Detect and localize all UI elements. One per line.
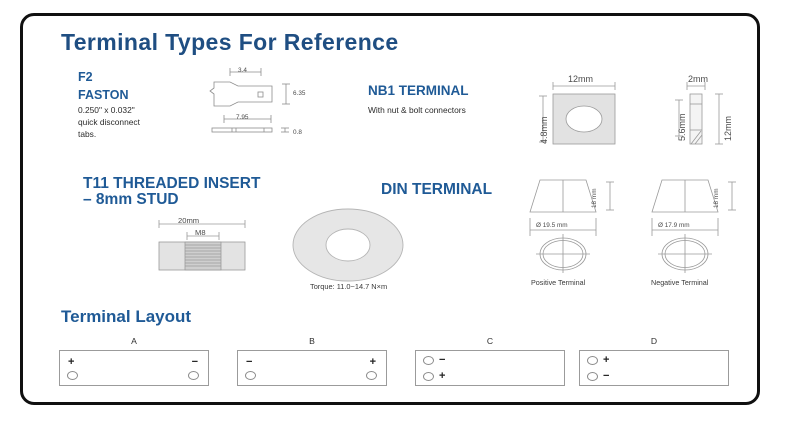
page-title: Terminal Types For Reference: [61, 29, 399, 56]
nb1-dim-plate-height: 4.8mm: [539, 116, 549, 144]
layout-a-left-terminal: [67, 371, 78, 380]
nb1-heading: NB1 TERMINAL: [368, 83, 469, 98]
nb1-dim-bolt-height: 12mm: [723, 116, 733, 141]
f2-dim-width-top: 3.4: [238, 67, 247, 74]
layout-b-right-terminal: [366, 371, 377, 380]
nb1-dim-bolt-width: 2mm: [688, 74, 708, 84]
t11-insert-drawing: [151, 214, 271, 274]
layout-letter-d: D: [579, 336, 729, 346]
layout-box-c: − +: [415, 350, 565, 386]
din-positive-height: 18 mm: [591, 188, 598, 208]
f2-description: 0.250" x 0.032" quick disconnect tabs.: [78, 104, 173, 141]
din-positive-caption: Positive Terminal: [531, 278, 585, 287]
layout-box-b: − +: [237, 350, 387, 386]
layout-letter-a: A: [59, 336, 209, 346]
f2-drawing: [208, 64, 338, 139]
layout-d-bottom-terminal: [587, 372, 598, 381]
reference-sheet: Terminal Types For Reference F2 FASTON 0…: [20, 13, 760, 405]
f2-dim-height-right: 6.35: [293, 90, 305, 97]
nb1-description: With nut & bolt connectors: [368, 104, 466, 116]
layout-a-right-sign: −: [192, 357, 198, 368]
layout-letter-b: B: [237, 336, 387, 346]
nb1-dim-plate-width: 12mm: [568, 74, 593, 84]
t11-torque-note: Torque: 11.0~14.7 N×m: [310, 282, 387, 291]
din-negative-diameter: Ø 17.9 mm: [658, 222, 690, 229]
layout-box-d: + −: [579, 350, 729, 386]
layout-c-bottom-terminal: [423, 372, 434, 381]
din-positive-diameter: Ø 19.5 mm: [536, 222, 568, 229]
layout-b-left-terminal: [245, 371, 256, 380]
layout-a-left-sign: +: [68, 357, 74, 368]
f2-dim-thickness: 0.8: [293, 129, 302, 136]
layout-d-top-sign: +: [603, 355, 609, 366]
layout-b-left-sign: −: [246, 357, 252, 368]
layout-box-a: + −: [59, 350, 209, 386]
t11-dim-thread: M8: [195, 228, 206, 237]
din-negative-height: 18 mm: [713, 188, 720, 208]
din-heading: DIN TERMINAL: [381, 181, 492, 199]
layout-b-right-sign: +: [370, 357, 376, 368]
f2-heading-line1: F2: [78, 70, 93, 84]
f2-heading-line2: FASTON: [78, 88, 128, 102]
layout-c-top-sign: −: [439, 355, 445, 366]
f2-dim-length-bottom: 7.95: [236, 114, 248, 121]
t11-washer-drawing: [288, 206, 408, 284]
t11-dim-outer-width: 20mm: [178, 216, 199, 225]
layout-letter-c: C: [415, 336, 565, 346]
layout-a-right-terminal: [188, 371, 199, 380]
t11-heading-line2: – 8mm STUD: [83, 191, 179, 209]
din-negative-caption: Negative Terminal: [651, 278, 708, 287]
layout-d-top-terminal: [587, 356, 598, 365]
layout-c-bottom-sign: +: [439, 371, 445, 382]
layout-c-top-terminal: [423, 356, 434, 365]
terminal-layout-heading: Terminal Layout: [61, 307, 191, 327]
nb1-dim-bolt-side-height: 5.6mm: [677, 113, 687, 141]
layout-d-bottom-sign: −: [603, 371, 609, 382]
